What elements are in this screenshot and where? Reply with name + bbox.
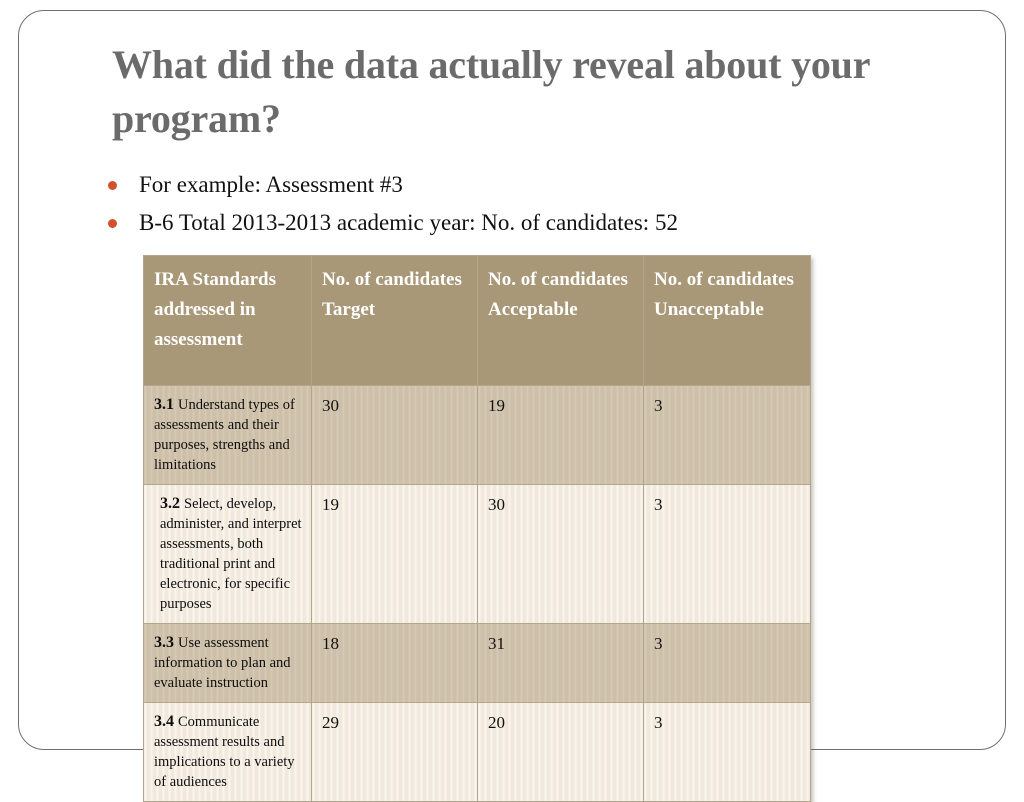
table-header-row: IRA Standards addressed in assessment No… (144, 256, 811, 386)
list-item: For example: Assessment #3 (108, 170, 938, 200)
standard-number: 3.4 (154, 713, 178, 730)
acceptable-value: 20 (478, 703, 644, 802)
unacceptable-value: 3 (644, 703, 811, 802)
standard-number: 3.3 (154, 634, 178, 651)
table-row: 3.2 Select, develop, administer, and int… (144, 485, 811, 624)
list-item: B-6 Total 2013-2013 academic year: No. o… (108, 208, 938, 238)
standard-number: 3.1 (154, 396, 178, 413)
unacceptable-value: 3 (644, 485, 811, 624)
acceptable-value: 30 (478, 485, 644, 624)
standard-cell: 3.3 Use assessment information to plan a… (144, 624, 312, 703)
standard-number: 3.2 (160, 495, 184, 512)
target-value: 29 (312, 703, 478, 802)
bullet-dot-icon (108, 219, 117, 228)
table-row: 3.3 Use assessment information to plan a… (144, 624, 811, 703)
acceptable-value: 31 (478, 624, 644, 703)
standard-cell: 3.4 Communicate assessment results and i… (144, 703, 312, 802)
bullet-dot-icon (108, 181, 117, 190)
assessment-table-container: IRA Standards addressed in assessment No… (143, 255, 810, 802)
standard-cell: 3.1 Understand types of assessments and … (144, 386, 312, 485)
acceptable-value: 19 (478, 386, 644, 485)
column-header-unacceptable: No. of candidates Unacceptable (644, 256, 811, 386)
target-value: 19 (312, 485, 478, 624)
table-row: 3.4 Communicate assessment results and i… (144, 703, 811, 802)
bullet-text: B-6 Total 2013-2013 academic year: No. o… (139, 208, 678, 238)
target-value: 18 (312, 624, 478, 703)
standard-cell: 3.2 Select, develop, administer, and int… (144, 485, 312, 624)
unacceptable-value: 3 (644, 624, 811, 703)
bullet-text: For example: Assessment #3 (139, 170, 403, 200)
column-header-target: No. of candidates Target (312, 256, 478, 386)
target-value: 30 (312, 386, 478, 485)
page-title: What did the data actually reveal about … (112, 38, 932, 146)
bullet-list: For example: Assessment #3 B-6 Total 201… (108, 170, 938, 246)
column-header-standards: IRA Standards addressed in assessment (144, 256, 312, 386)
standard-description: Select, develop, administer, and interpr… (160, 496, 302, 612)
table-row: 3.1 Understand types of assessments and … (144, 386, 811, 485)
assessment-table: IRA Standards addressed in assessment No… (143, 255, 811, 802)
unacceptable-value: 3 (644, 386, 811, 485)
column-header-acceptable: No. of candidates Acceptable (478, 256, 644, 386)
